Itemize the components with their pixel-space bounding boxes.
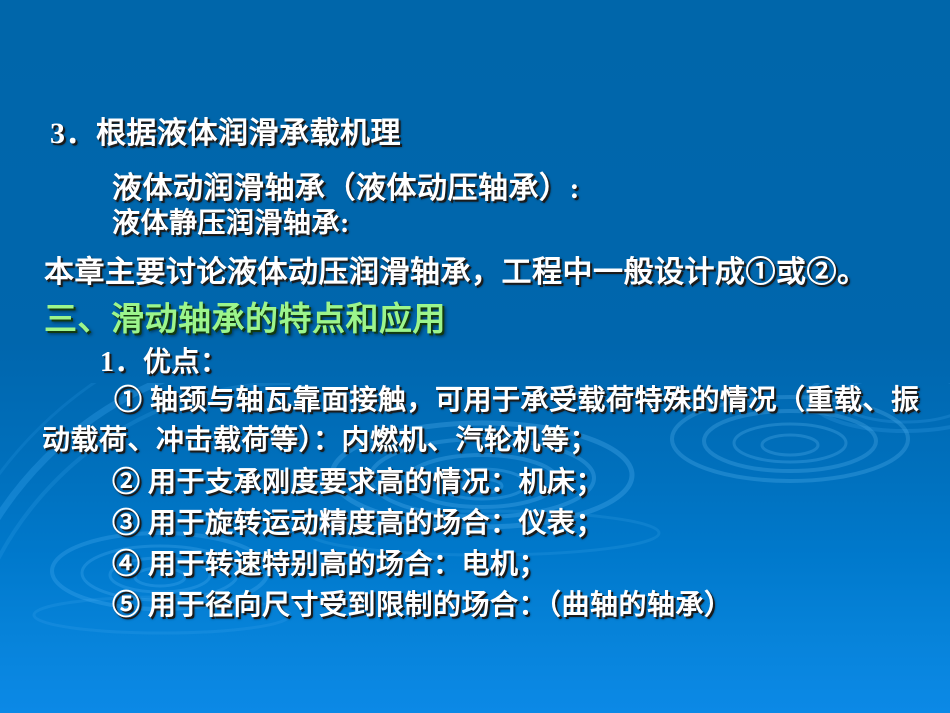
text-line-heading-3: 3．根据液体润滑承载机理 xyxy=(50,108,401,152)
text-line-advantages: 1．优点： xyxy=(100,340,229,380)
slide-text-content: 3．根据液体润滑承载机理 液体动润滑轴承（液体动压轴承）: 液体静压润滑轴承: … xyxy=(0,0,950,713)
list-item-1: ① 轴颈与轴瓦靠面接触，可用于承受载荷特殊的情况（重载、振动载荷、冲击载荷等）：… xyxy=(42,381,922,461)
list-item-2: ② 用于支承刚度要求高的情况：机床； xyxy=(112,460,604,500)
text-line-chapter-note: 本章主要讨论液体动压润滑轴承，工程中一般设计成①或②。 xyxy=(44,247,868,291)
presentation-slide: 3．根据液体润滑承载机理 液体动润滑轴承（液体动压轴承）: 液体静压润滑轴承: … xyxy=(0,0,950,713)
list-item-5: ⑤ 用于径向尺寸受到限制的场合：（曲轴的轴承） xyxy=(112,583,733,623)
text-line-hydrostatic: 液体静压润滑轴承: xyxy=(112,201,350,241)
list-item-4: ④ 用于转速特别高的场合：电机； xyxy=(112,542,547,582)
section-heading-three: 三、滑动轴承的特点和应用 xyxy=(44,292,446,340)
list-item-3: ③ 用于旋转运动精度高的场合：仪表； xyxy=(112,501,604,541)
